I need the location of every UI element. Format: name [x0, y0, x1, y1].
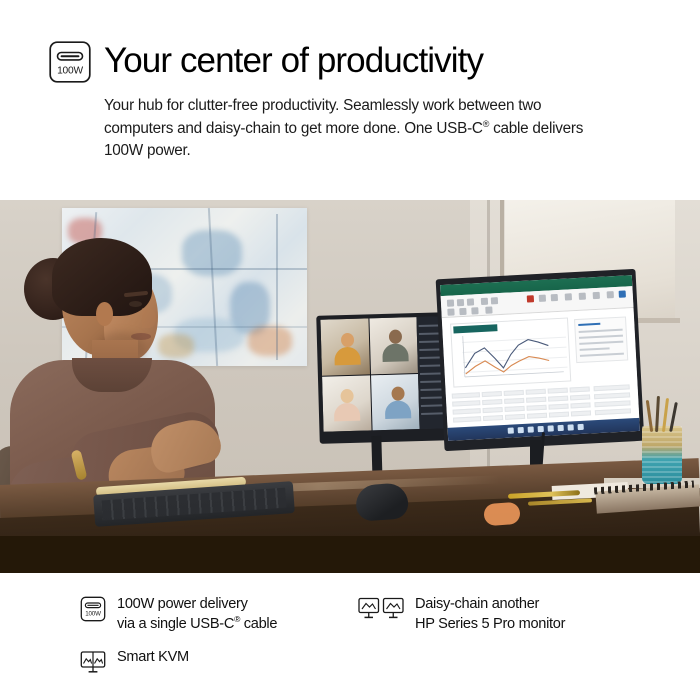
spreadsheet-body: [442, 308, 639, 428]
feature-smart-kvm-text: Smart KVM: [117, 648, 189, 668]
regional-sales-chart: [450, 317, 571, 387]
person-eye: [129, 301, 142, 307]
feature-daisy-chain-text: Daisy-chain another HP Series 5 Pro moni…: [415, 595, 565, 634]
video-tile: [322, 375, 371, 432]
usb-c-100w-icon: 100W: [80, 596, 106, 622]
right-monitor-screen: [440, 275, 640, 441]
svg-text:100W: 100W: [85, 611, 101, 618]
feature-daisy-chain: Daisy-chain another HP Series 5 Pro moni…: [358, 595, 565, 634]
feature-smart-kvm: Smart KVM: [80, 648, 189, 675]
chart-series-lines: [451, 318, 572, 388]
video-conference-grid: [320, 317, 419, 432]
header-body-copy: Your hub for clutter-free productivity. …: [104, 95, 606, 163]
hero-photo: [0, 200, 700, 573]
body-copy-text: Your hub for clutter-free productivity. …: [104, 97, 541, 137]
svg-text:100W: 100W: [57, 66, 83, 77]
feature-line-2: HP Series 5 Pro monitor: [415, 616, 565, 632]
video-tile: [320, 318, 369, 375]
chart-notes-panel: [574, 316, 628, 363]
feature-power-delivery-text: 100W power delivery via a single USB-C® …: [117, 595, 277, 634]
video-tile: [371, 374, 420, 431]
page-title: Your center of productivity: [104, 40, 483, 82]
feature-line-1: Smart KVM: [117, 649, 189, 665]
feature-line-1: Daisy-chain another: [415, 596, 539, 612]
spreadsheet-data-table: [452, 384, 633, 423]
pencil-cup-stripes: [642, 426, 682, 484]
person-nose: [142, 308, 156, 328]
desk-front: [0, 536, 700, 573]
mouse: [355, 482, 409, 522]
feature-line-1: 100W power delivery: [117, 596, 248, 612]
feature-line-2: via a single USB-C: [117, 616, 234, 632]
marketing-page: 100W Your center of productivity Your hu…: [0, 0, 700, 700]
sticky-note: [483, 502, 520, 526]
split-screen-monitor-icon: [80, 649, 106, 675]
header-section: 100W Your center of productivity Your hu…: [0, 0, 700, 200]
video-tile: [369, 317, 418, 374]
usb-c-100w-icon: 100W: [48, 40, 92, 84]
features-section: 100W 100W power delivery via a single US…: [0, 573, 700, 700]
left-monitor-screen: [320, 316, 447, 431]
person-ear: [96, 302, 113, 326]
dual-monitor-daisy-chain-icon: [358, 596, 404, 622]
feature-power-delivery: 100W 100W power delivery via a single US…: [80, 595, 277, 634]
feature-line-2-end: cable: [240, 616, 277, 632]
